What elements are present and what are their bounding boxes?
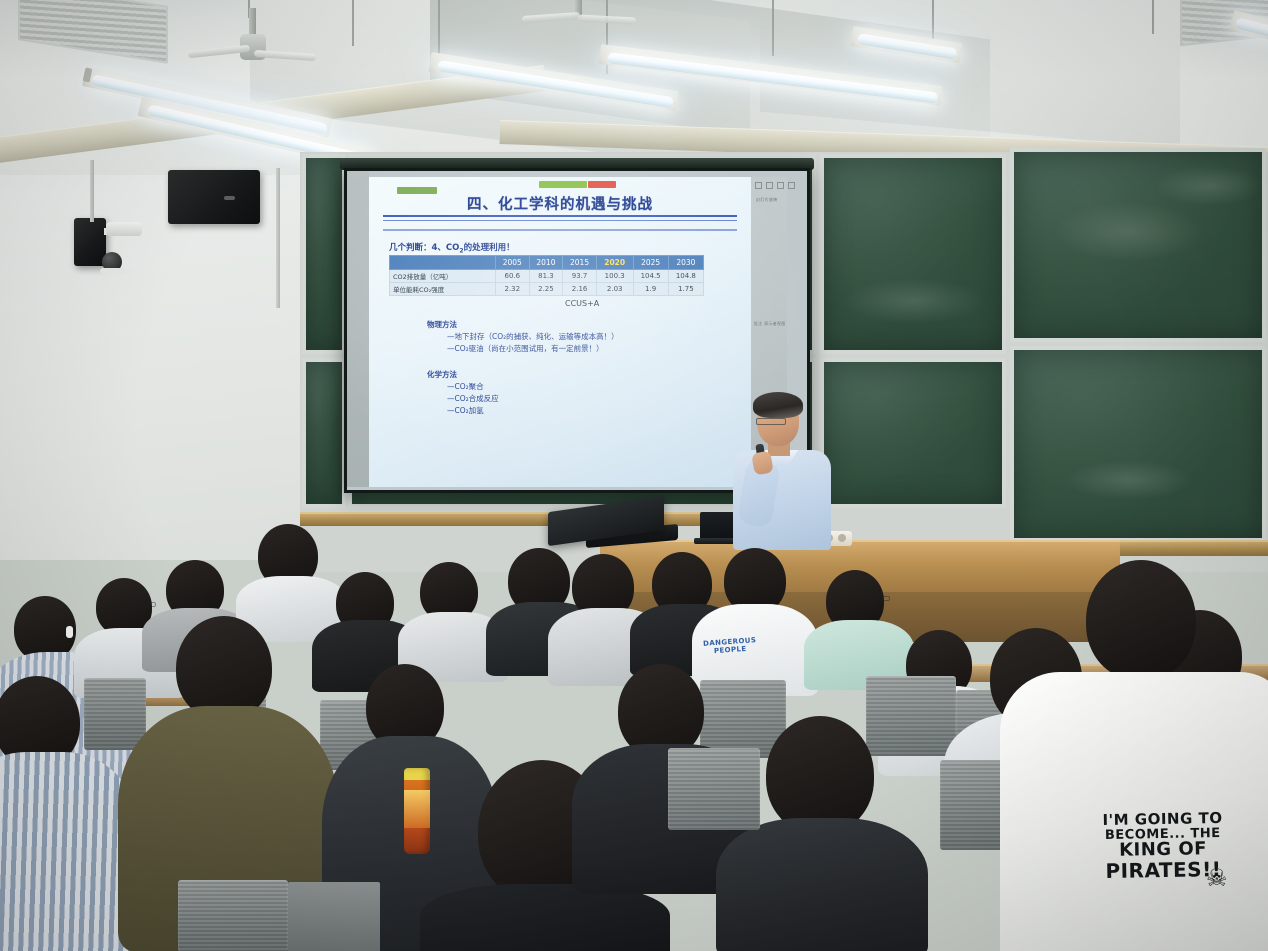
glasses-icon [870, 596, 890, 601]
drink-bottle-label [404, 790, 430, 828]
earbud-icon [66, 626, 73, 638]
lecture-hall-photo: 四、化工学科的机遇与挑战 几个判断：4、CO2的处理利用！ 2005 2010 … [0, 0, 1268, 951]
student-head [766, 716, 874, 834]
chair-side-panel [288, 882, 380, 951]
student-shoulders [716, 818, 928, 951]
glasses-icon [136, 602, 156, 607]
student-head [176, 616, 272, 720]
shirt-line-2: PEOPLE [714, 645, 747, 655]
student-head [1086, 560, 1196, 680]
chair-back [668, 748, 760, 830]
student-shoulders [420, 884, 670, 951]
chair-back [84, 678, 146, 750]
chair-back [866, 676, 956, 756]
audience-area: DANGEROUS PEOPLE [0, 0, 1268, 951]
chair-back [178, 880, 288, 951]
skull-and-crossbones-icon: ☠ [1206, 866, 1232, 892]
